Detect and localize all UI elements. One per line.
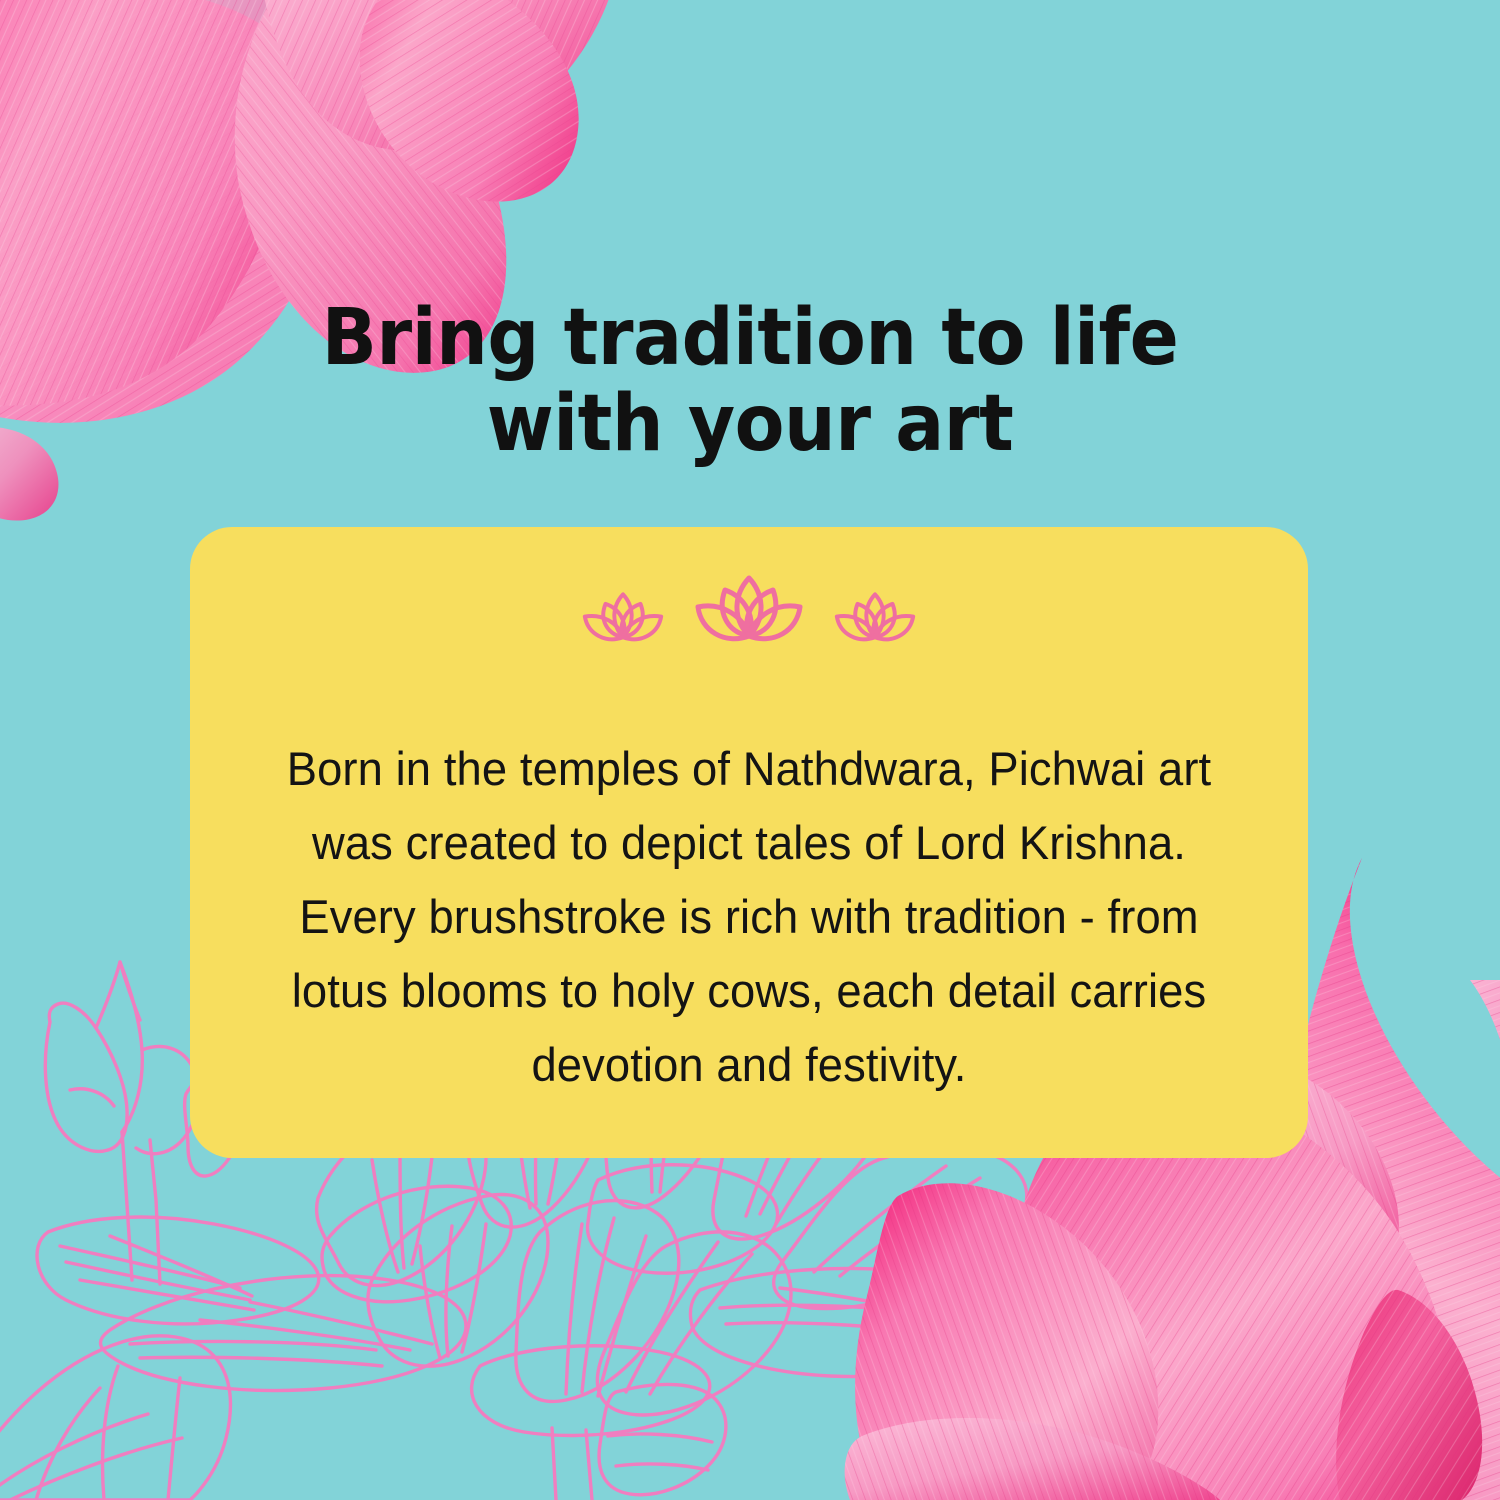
lotus-ornament-row	[190, 572, 1308, 655]
lotus-ornament-left-icon	[575, 588, 671, 655]
lotus-ornament-right-icon	[827, 588, 923, 655]
heading-line-1: Bring tradition to life	[53, 295, 1448, 381]
heading-line-2: with your art	[53, 381, 1448, 467]
page-title: Bring tradition to life with your art	[0, 295, 1500, 467]
body-paragraph: Born in the temples of Nathdwara, Pichwa…	[256, 732, 1242, 1102]
info-card: Born in the temples of Nathdwara, Pichwa…	[190, 527, 1308, 1158]
lotus-ornament-center-icon	[689, 572, 809, 655]
poster-canvas: Born in the temples of Nathdwara, Pichwa…	[0, 0, 1500, 1500]
